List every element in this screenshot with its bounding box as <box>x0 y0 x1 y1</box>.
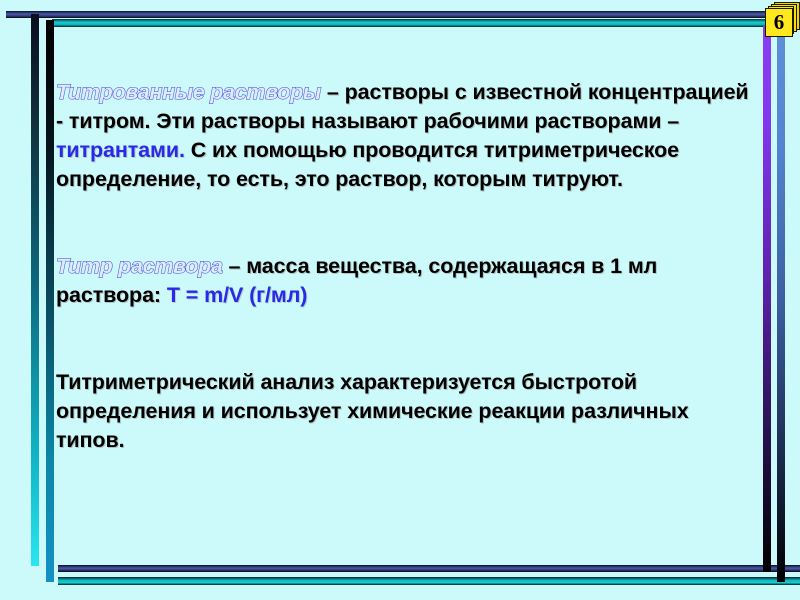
presentation-slide: 6 Титрованные растворы – растворы с изве… <box>0 0 800 600</box>
top-teal-bar <box>52 19 782 27</box>
sticky-note-card-front: 6 <box>765 8 793 37</box>
bottom-navy-bar <box>58 565 800 572</box>
slide-body: Титрованные растворы – растворы с извест… <box>56 78 756 455</box>
paragraph-solution-titre: Титр раствора – масса вещества, содержащ… <box>56 252 756 310</box>
page-number-badge: 6 <box>765 2 800 42</box>
bottom-teal-bar <box>58 577 800 585</box>
paragraph-titrated-solutions: Титрованные растворы – растворы с извест… <box>56 78 756 194</box>
right-blue-bar <box>777 26 785 582</box>
heading-solution-titre: Титр раствора <box>56 254 223 278</box>
paragraph-titrimetric-analysis: Титриметрический анализ характеризуется … <box>56 368 756 455</box>
top-navy-bar <box>6 11 778 18</box>
left-outer-bar <box>31 14 39 566</box>
page-number-text: 6 <box>774 12 785 34</box>
heading-titrated-solutions: Титрованные растворы <box>56 80 321 104</box>
run-titre-formula: T = m/V (г/мл) <box>167 283 307 307</box>
left-inner-bar <box>46 20 54 582</box>
right-purple-bar <box>763 26 771 572</box>
run-titrimetric-analysis: Титриметрический анализ характеризуется … <box>56 370 689 452</box>
run-titrants-emphasis: титрантами. <box>56 138 185 162</box>
